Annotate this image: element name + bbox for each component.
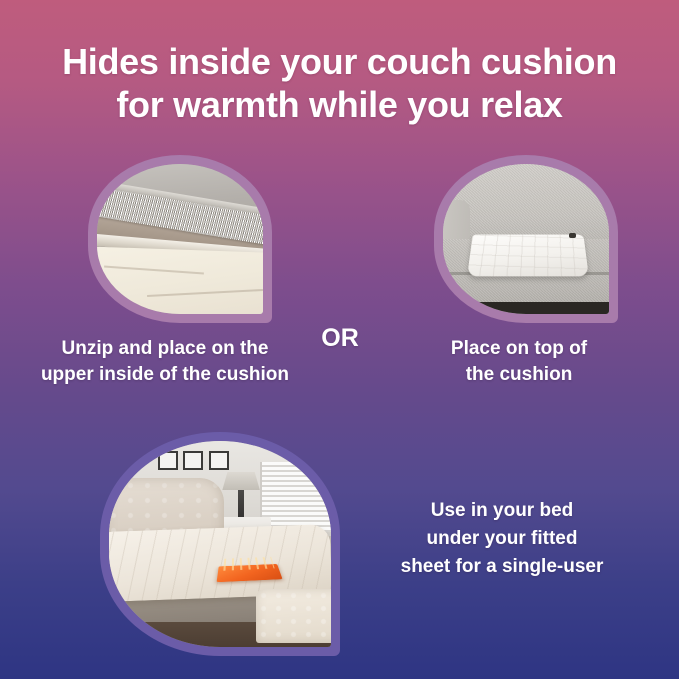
wall-art-frame-icon — [158, 451, 178, 470]
floor-shadow — [443, 302, 609, 314]
cushion-inner-fabric — [97, 246, 263, 314]
lamp-shade-icon — [222, 472, 260, 491]
caption-line: Unzip and place on the — [0, 336, 330, 362]
caption-line: Place on top of — [384, 336, 654, 362]
photo-bed — [109, 441, 331, 647]
panel-image-cushion-inside — [88, 155, 272, 323]
product-infographic-poster: Hides inside your couch cushion for warm… — [0, 0, 679, 679]
caption-line: Use in your bed — [352, 497, 652, 525]
tufted-ottoman — [256, 589, 331, 643]
caption-bed: Use in your bed under your fitted sheet … — [352, 497, 652, 581]
or-divider-label: OR — [300, 322, 380, 354]
caption-line: under your fitted — [352, 525, 652, 553]
caption-cushion-top: Place on top of the cushion — [384, 336, 654, 388]
panel-image-bed — [100, 432, 340, 656]
heating-pad-tag-icon — [569, 233, 576, 238]
caption-line: sheet for a single-user — [352, 553, 652, 581]
headline-line-1: Hides inside your couch cushion — [0, 40, 679, 83]
heating-pad-quilting — [467, 234, 589, 276]
caption-cushion-inside: Unzip and place on the upper inside of t… — [0, 336, 330, 388]
photo-cushion-top — [443, 164, 609, 314]
panel-image-cushion-top — [434, 155, 618, 323]
photo-cushion-inside — [97, 164, 263, 314]
caption-line: upper inside of the cushion — [0, 362, 330, 388]
page-title: Hides inside your couch cushion for warm… — [0, 40, 679, 126]
wall-art-frame-icon — [183, 451, 203, 470]
headline-line-2: for warmth while you relax — [0, 83, 679, 126]
wall-art-frame-icon — [209, 451, 229, 470]
caption-line: the cushion — [384, 362, 654, 388]
